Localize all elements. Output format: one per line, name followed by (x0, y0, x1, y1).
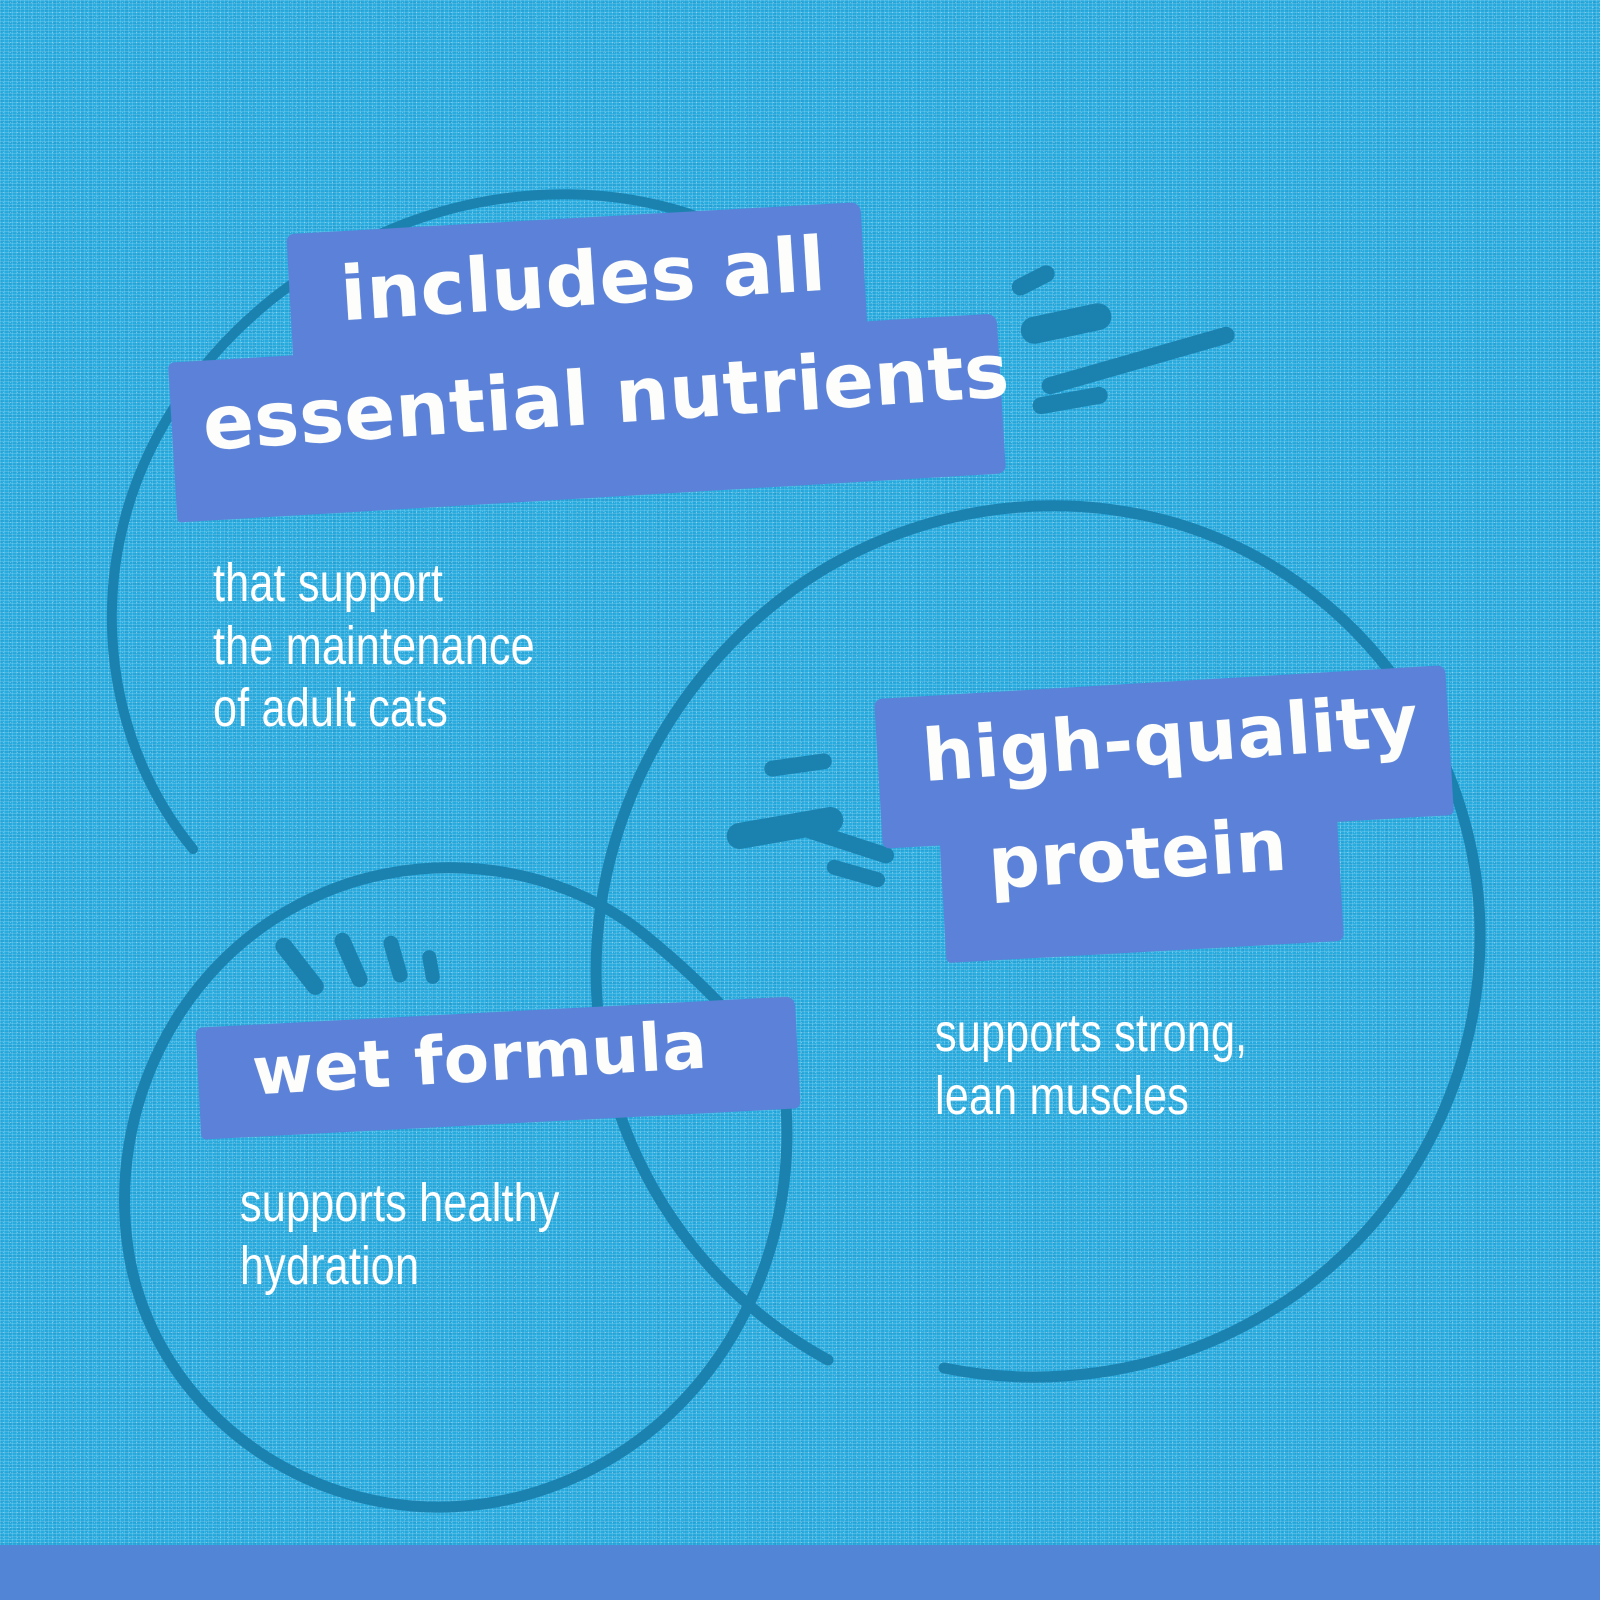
speed-line (382, 934, 410, 984)
body-copy-wet-formula: supports healthy hydration (240, 1172, 560, 1297)
speed-line (421, 949, 441, 985)
speed-lines-wet-formula (272, 930, 441, 998)
headline-badge-high-quality-protein: high-quality protein (860, 660, 1480, 960)
body-copy-essential-nutrients: that support the maintenance of adult ca… (213, 552, 535, 740)
headline-badge-essential-nutrients: includes all essential nutrients (150, 210, 1050, 520)
speed-line (332, 930, 370, 989)
poster-canvas: includes all essential nutrients that su… (0, 0, 1600, 1600)
speed-line (725, 805, 846, 851)
speed-line (272, 934, 327, 998)
speed-line (763, 752, 833, 777)
headline-line-2: protein (986, 809, 1289, 900)
body-copy-high-quality-protein: supports strong, lean muscles (935, 1002, 1247, 1127)
speed-line (1040, 325, 1237, 396)
headline-badge-wet-formula: wet formula (190, 1000, 830, 1150)
bottom-accent-bar (0, 1545, 1600, 1600)
